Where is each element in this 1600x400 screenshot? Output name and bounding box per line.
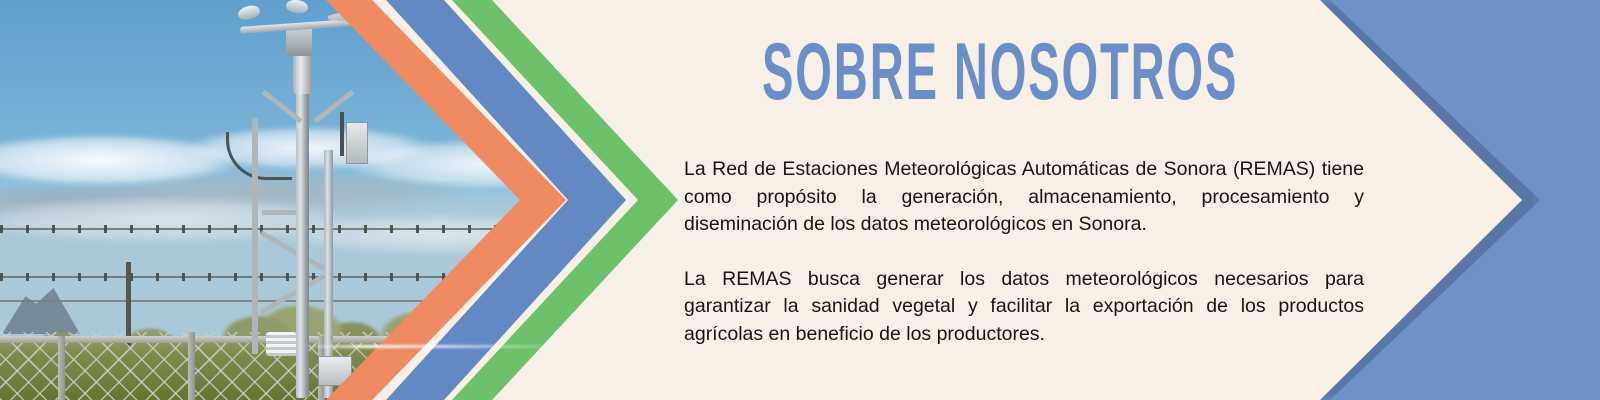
banner-content: SOBRE NOSOTROS La Red de Estaciones Mete…	[684, 0, 1374, 400]
about-paragraph-1: La Red de Estaciones Meteorológicas Auto…	[684, 156, 1364, 239]
anemometer-cup	[285, 0, 309, 14]
about-us-banner: SOBRE NOSOTROS La Red de Estaciones Mete…	[0, 0, 1600, 400]
mast-brace	[252, 118, 258, 354]
about-paragraph-2: La REMAS busca generar los datos meteoro…	[684, 266, 1364, 349]
station-mast	[296, 78, 309, 398]
about-text-block: La Red de Estaciones Meteorológicas Auto…	[684, 156, 1364, 348]
radiation-shield	[266, 332, 296, 356]
antenna	[340, 112, 344, 156]
page-title: SOBRE NOSOTROS	[762, 32, 1238, 113]
fence-post	[58, 336, 65, 400]
anemometer-cup	[237, 4, 261, 22]
image-artifact-streak	[300, 345, 570, 348]
instrument-enclosure	[346, 122, 368, 164]
sensor-head	[286, 26, 312, 56]
fence-post	[188, 332, 195, 400]
